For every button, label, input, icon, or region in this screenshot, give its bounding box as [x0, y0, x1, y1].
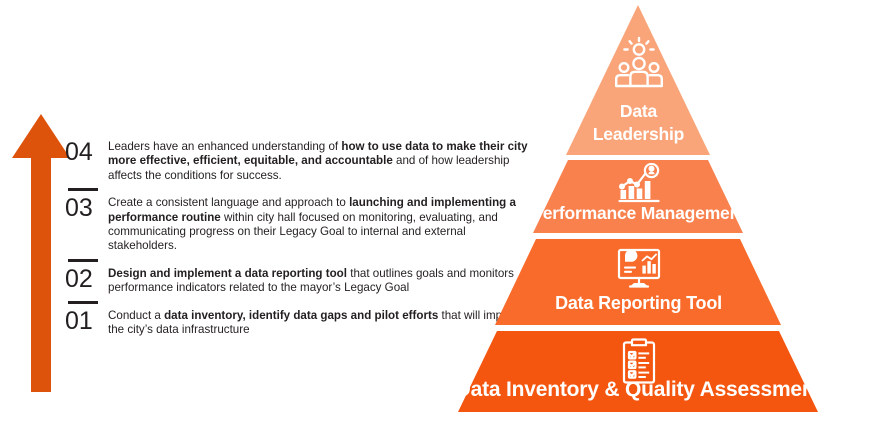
- pyramid-diagram: Data Leadership Performance Management D…: [400, 0, 877, 427]
- step-number: 01: [62, 309, 108, 334]
- tier-label-line1: Data: [593, 100, 684, 123]
- pyramid-tier-label-performance-management: Performance Management: [531, 203, 745, 224]
- people-group-idea-icon: [612, 36, 666, 93]
- pyramid-tier-label-data-leadership: Data Leadership: [593, 100, 684, 146]
- infographic-canvas: 04 Leaders have an enhanced understandin…: [0, 0, 877, 427]
- step-number: 02: [62, 267, 108, 292]
- step-number: 03: [62, 196, 108, 221]
- pyramid-tier-label-data-inventory: Data Inventory & Quality Assessment: [456, 378, 822, 402]
- pyramid-tier-label-data-reporting-tool: Data Reporting Tool: [555, 293, 722, 314]
- monitor-dashboard-icon: [615, 248, 663, 295]
- step-number: 04: [62, 140, 108, 165]
- tier-label-line2: Leadership: [593, 123, 684, 146]
